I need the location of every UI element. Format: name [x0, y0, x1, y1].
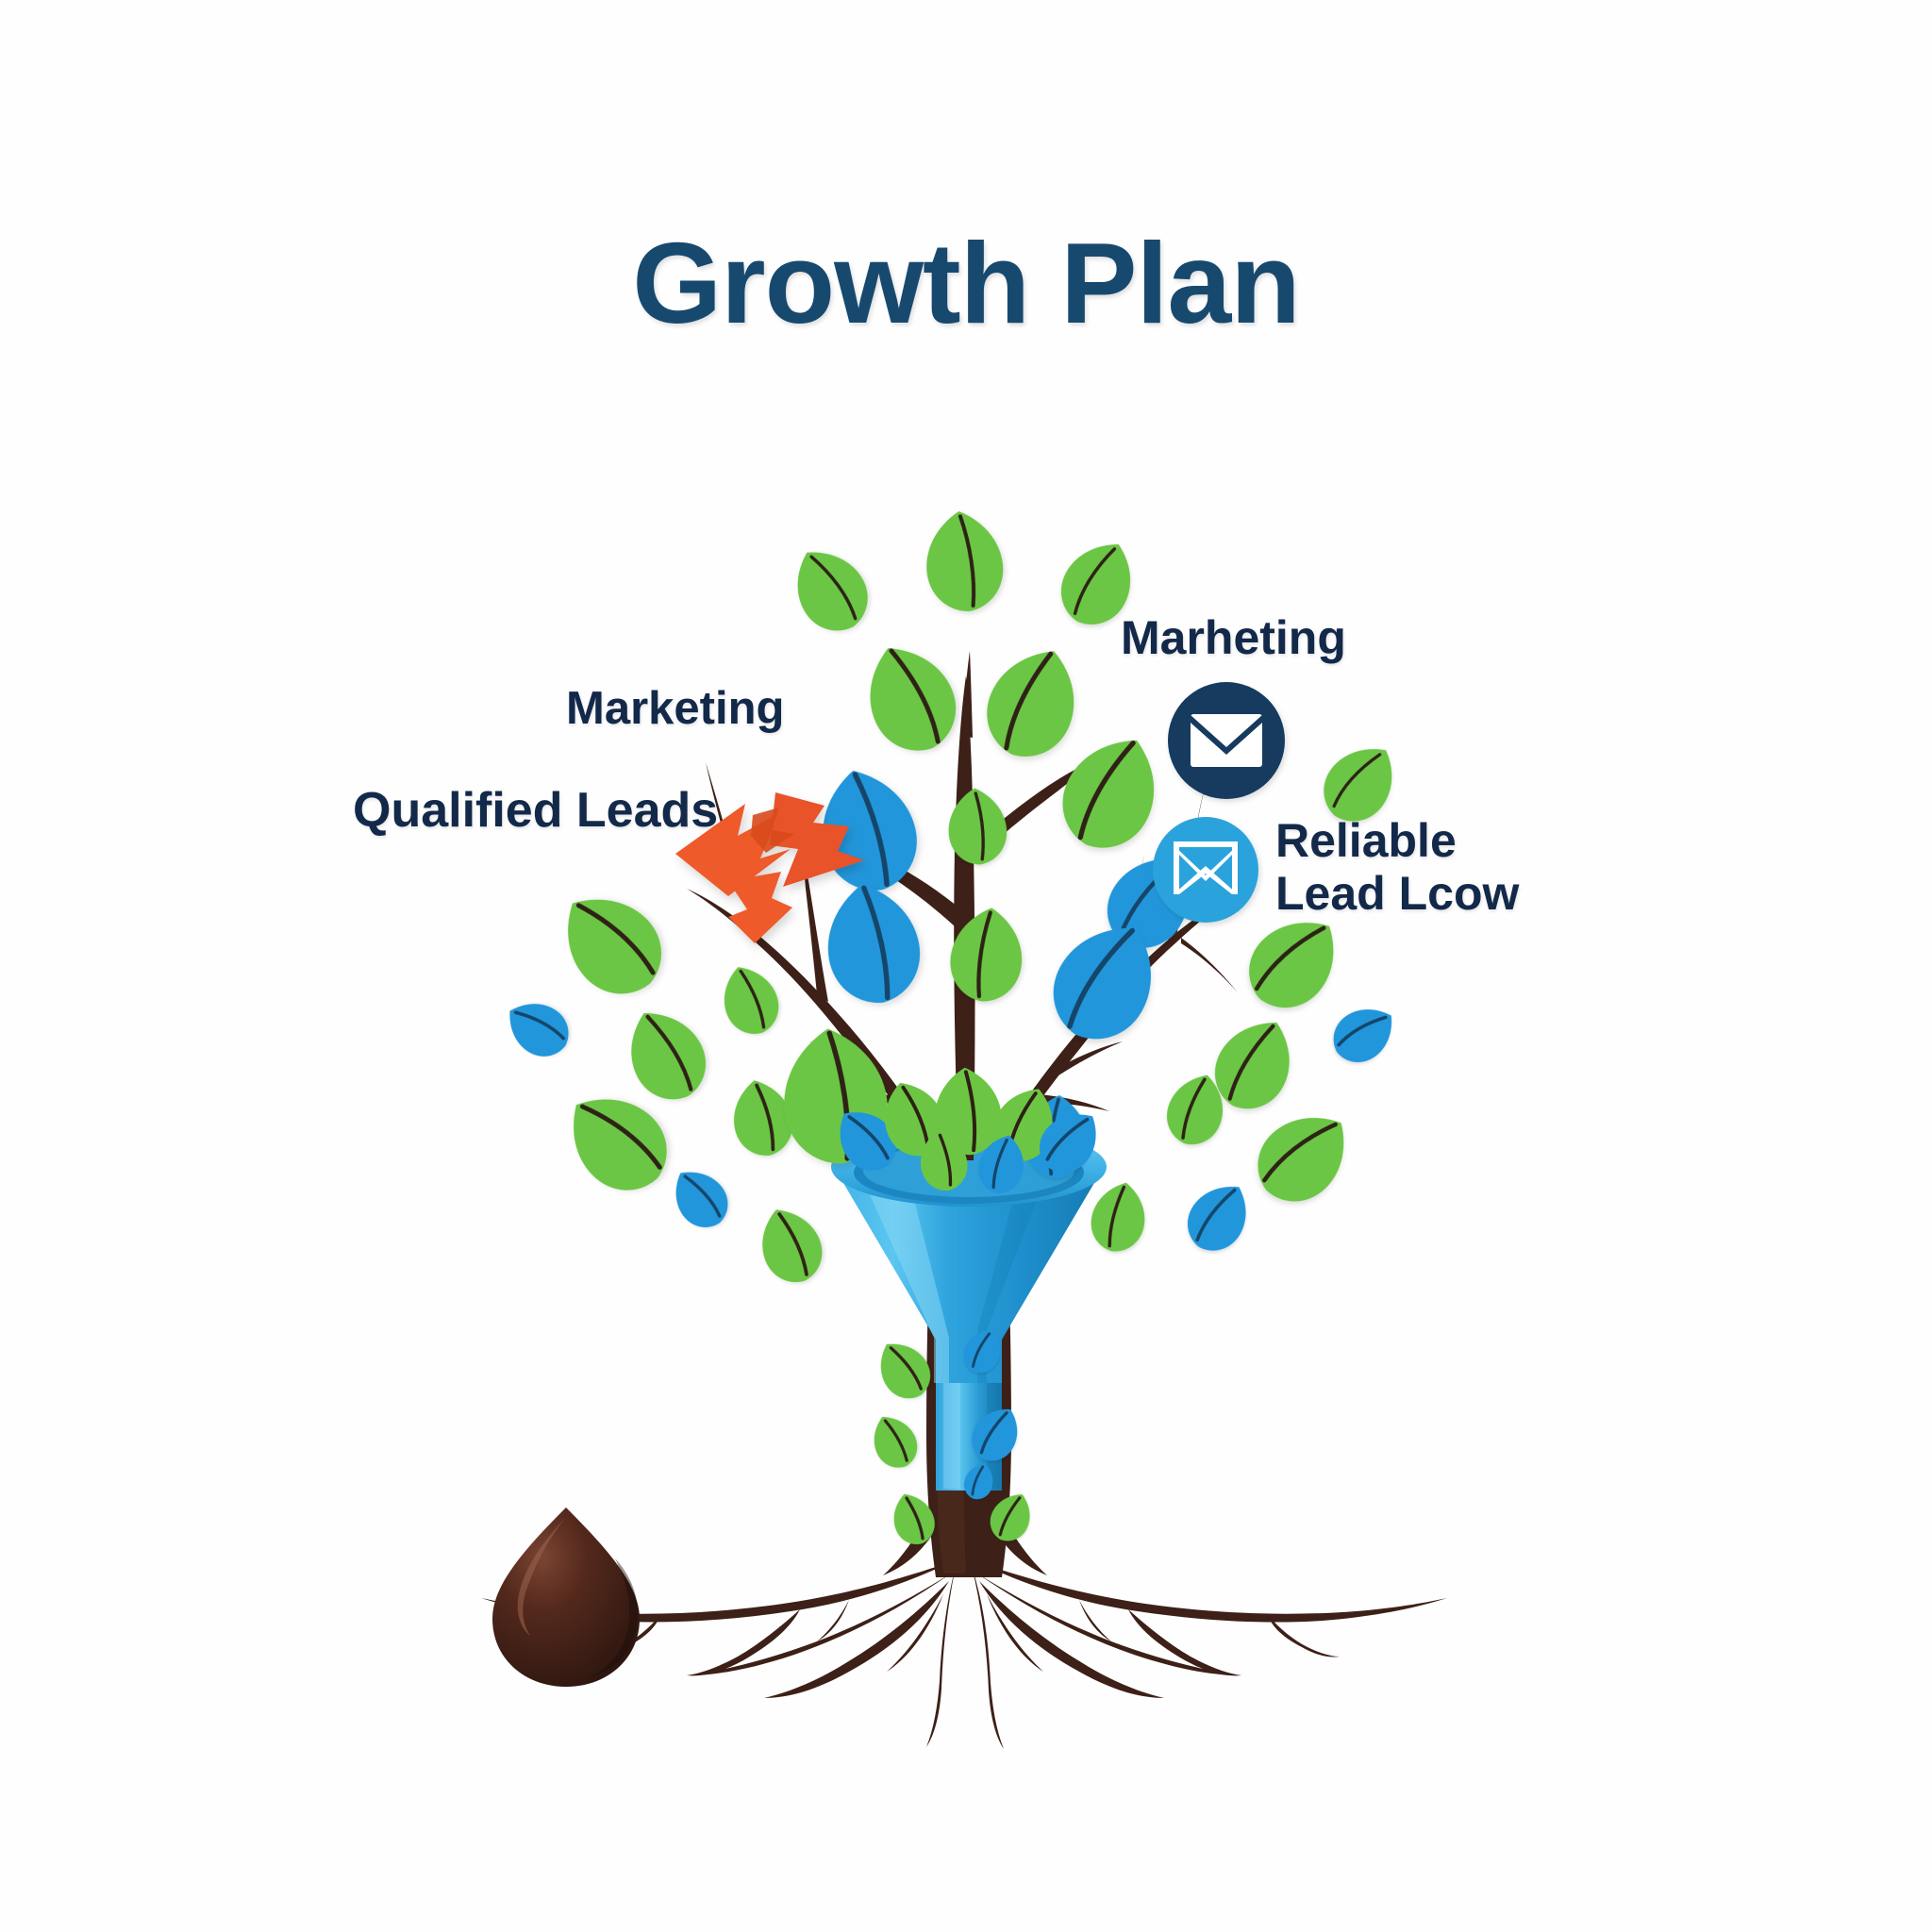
- infographic-canvas: Growth Plan: [0, 0, 1932, 1932]
- label-marketing-right: Marheting: [1121, 611, 1346, 664]
- label-reliable-lead-flow: Reliable Lead Lcow: [1275, 814, 1519, 920]
- seed-icon: [492, 1507, 643, 1687]
- label-qualified-leads: Qualified Leads: [353, 783, 718, 838]
- label-marketing-left: Marketing: [566, 683, 784, 735]
- label-reliable-line2: Lead Lcow: [1275, 867, 1519, 920]
- envelope-icon-navy[interactable]: [1168, 682, 1285, 799]
- growth-tree-illustration: [0, 0, 1932, 1932]
- label-reliable-line1: Reliable: [1275, 814, 1457, 867]
- envelope-icon-blue[interactable]: [1153, 817, 1258, 923]
- funnel-icon: [831, 1127, 1107, 1491]
